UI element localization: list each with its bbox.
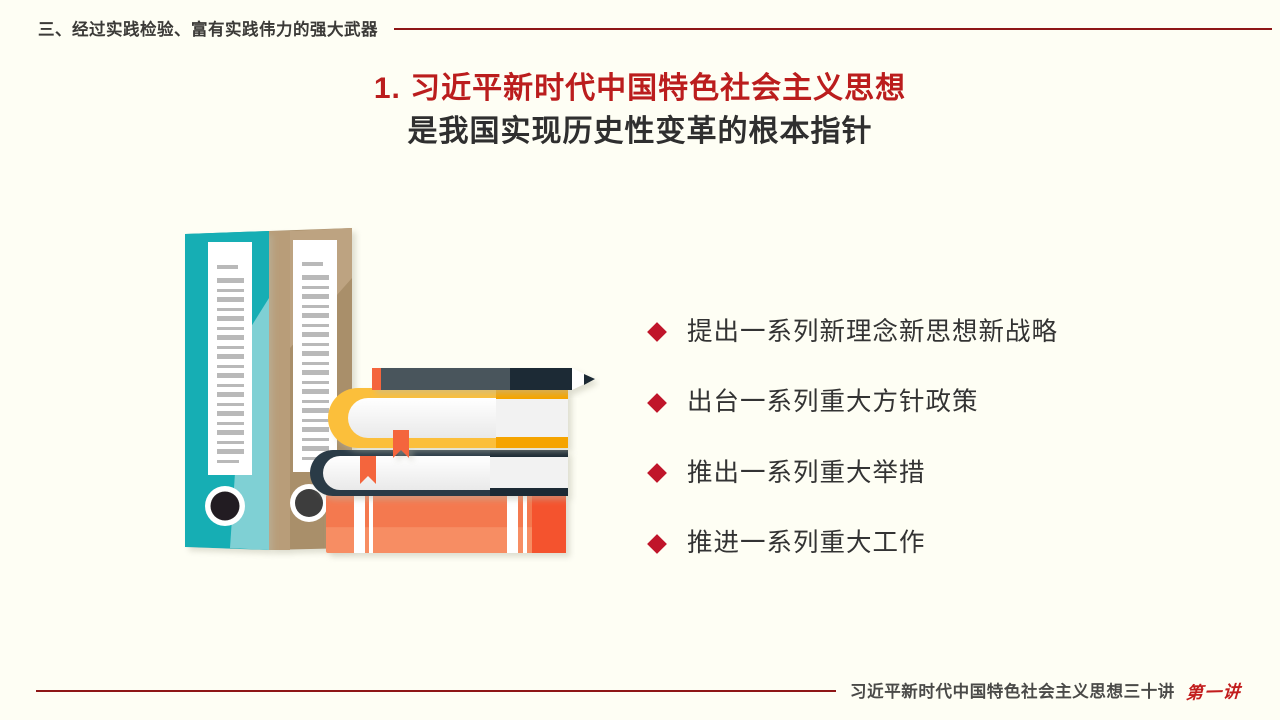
- navy-book: [310, 450, 568, 496]
- slide-canvas: 三、经过实践检验、富有实践伟力的强大武器 1. 习近平新时代中国特色社会主义思想…: [0, 0, 1280, 720]
- title-line-secondary: 是我国实现历史性变革的根本指针: [0, 110, 1280, 154]
- yellow-book: [328, 388, 568, 458]
- list-item[interactable]: 推出一系列重大举措: [650, 438, 1210, 509]
- slide-footer: 习近平新时代中国特色社会主义思想三十讲 第一讲: [0, 670, 1280, 710]
- series-title: 习近平新时代中国特色社会主义思想三十讲: [850, 678, 1175, 702]
- dark-top-book-with-pencil: [372, 368, 595, 390]
- list-item-label: 提出一系列新理念新思想新战略: [687, 320, 1058, 346]
- header-divider-line: [394, 28, 1272, 30]
- footer-divider-line: [36, 690, 836, 692]
- bullet-list: 提出一系列新理念新思想新战略 出台一系列重大方针政策 推出一系列重大举措 推进一…: [650, 297, 1210, 579]
- books-and-binders-illustration: [180, 218, 600, 563]
- orange-book: [326, 495, 566, 553]
- list-item[interactable]: 提出一系列新理念新思想新战略: [650, 297, 1210, 368]
- title-line-primary: 1. 习近平新时代中国特色社会主义思想: [0, 68, 1280, 110]
- top-book-bookmark: [372, 368, 381, 390]
- slide-header: 三、经过实践检验、富有实践伟力的强大武器: [0, 13, 1280, 43]
- diamond-bullet-icon: [647, 463, 667, 483]
- lecture-stamp-badge: 第一讲: [1185, 677, 1242, 703]
- section-label: 三、经过实践检验、富有实践伟力的强大武器: [38, 16, 378, 40]
- page-title: 1. 习近平新时代中国特色社会主义思想 是我国实现历史性变革的根本指针: [0, 68, 1280, 154]
- illustration-svg: [180, 218, 600, 563]
- list-item-label: 推出一系列重大举措: [687, 461, 926, 487]
- list-item-label: 出台一系列重大方针政策: [687, 390, 979, 416]
- list-item[interactable]: 出台一系列重大方针政策: [650, 368, 1210, 439]
- list-item[interactable]: 推进一系列重大工作: [650, 509, 1210, 580]
- diamond-bullet-icon: [647, 534, 667, 554]
- diamond-bullet-icon: [647, 393, 667, 413]
- list-item-label: 推进一系列重大工作: [687, 531, 926, 557]
- diamond-bullet-icon: [647, 322, 667, 342]
- teal-binder: [185, 231, 269, 550]
